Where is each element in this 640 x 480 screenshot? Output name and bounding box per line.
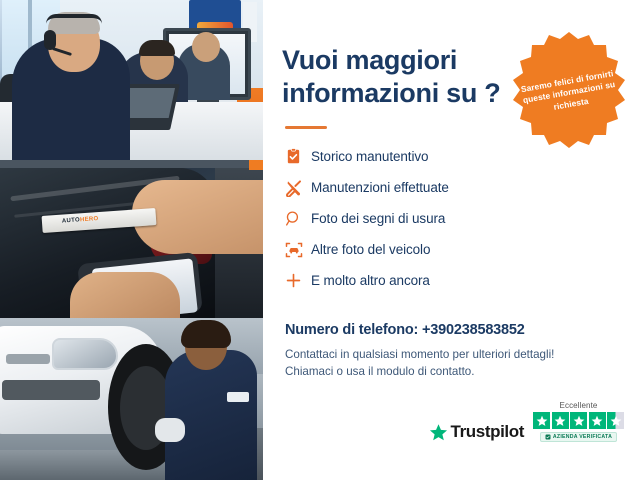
feature-label: Storico manutentivo — [311, 149, 428, 164]
feature-label: E molto altro ancora — [311, 273, 430, 288]
magnifier-icon — [285, 210, 311, 227]
person-mid-hair-decor — [139, 40, 175, 56]
verified-check-icon — [545, 434, 551, 440]
verified-business-badge: AZIENDA VERIFICATA — [540, 432, 617, 442]
photo-top-strip-decor — [0, 160, 263, 168]
page-title: Vuoi maggiori informazioni su ? — [282, 44, 532, 110]
call-center-photo — [0, 0, 263, 160]
callout-badge-text: Saremo felici di fornirti queste informa… — [505, 66, 633, 120]
callout-badge: Saremo felici di fornirti queste informa… — [507, 30, 631, 154]
mechanic-glove-decor — [155, 418, 185, 442]
grille-upper-decor — [6, 354, 50, 364]
trustpilot-widget[interactable]: Trustpilot Eccellente AZIENDA VERIFICATA — [429, 401, 624, 442]
hand-lower-decor — [70, 272, 180, 318]
trustpilot-brand: Trustpilot — [451, 422, 524, 442]
phone-number[interactable]: +390238583852 — [422, 322, 525, 338]
photo-column: AUTOHERO — [0, 0, 263, 480]
grille-decor — [2, 380, 100, 400]
plus-icon — [285, 272, 311, 289]
verified-business-label: AZIENDA VERIFICATA — [553, 434, 612, 440]
contact-subtext-line-1: Contattaci in qualsiasi momento per ulte… — [285, 348, 554, 361]
star-5-half — [607, 412, 624, 429]
orange-accent-decor — [249, 160, 263, 170]
feature-item-molto-altro: E molto altro ancora — [285, 267, 640, 295]
headlight-decor — [52, 338, 118, 370]
autohero-text-a: AUTO — [62, 217, 80, 224]
car-frame-icon — [285, 241, 311, 259]
page-title-line-1: Vuoi maggiori — [282, 45, 457, 75]
trustpilot-star-icon — [429, 423, 448, 442]
promo-card: AUTOHERO Vuoi maggiori — [0, 0, 640, 480]
trustpilot-rating: Eccellente AZIENDA VERIFICATA — [533, 401, 624, 442]
trustpilot-rating-label: Eccellente — [560, 401, 598, 410]
content-panel: Vuoi maggiori informazioni su ? Storico … — [263, 0, 640, 480]
autohero-logo: AUTOHERO — [62, 216, 99, 225]
trustpilot-stars — [533, 412, 624, 429]
autohero-text-b: HERO — [80, 216, 99, 223]
star-4 — [589, 412, 606, 429]
mechanic-badge-decor — [227, 392, 249, 402]
contact-subtext-line-2: Chiamaci o usa il modulo di contatto. — [285, 365, 474, 378]
trustpilot-logo: Trustpilot — [429, 422, 524, 442]
title-divider — [285, 126, 327, 129]
callout-badge-content: Saremo felici di fornirti queste informa… — [497, 20, 640, 164]
mechanic-decor — [165, 350, 257, 480]
phone-line: Numero di telefono: +390238583852 — [285, 322, 640, 338]
feature-label: Altre foto del veicolo — [311, 242, 430, 257]
feature-label: Manutenzioni effettuate — [311, 180, 449, 195]
workshop-photo — [0, 318, 263, 480]
person-back-head-decor — [192, 32, 220, 62]
headset-band-decor — [46, 14, 102, 24]
feature-list: Storico manutentivo Manutenzioni effettu… — [285, 143, 640, 295]
star-1 — [533, 412, 550, 429]
star-2 — [552, 412, 569, 429]
clipboard-check-icon — [285, 148, 311, 165]
feature-item-manutenzioni-effettuate: Manutenzioni effettuate — [285, 174, 640, 202]
tools-icon — [285, 179, 311, 197]
feature-item-foto-segni-usura: Foto dei segni di usura — [285, 205, 640, 233]
feature-item-altre-foto-veicolo: Altre foto del veicolo — [285, 236, 640, 264]
page-title-line-2: informazioni su ? — [282, 78, 500, 108]
mechanic-hair-decor — [181, 320, 231, 348]
feature-label: Foto dei segni di usura — [311, 211, 445, 226]
star-3 — [570, 412, 587, 429]
phone-label: Numero di telefono: — [285, 322, 418, 338]
car-inspection-photo: AUTOHERO — [0, 160, 263, 318]
contact-subtext: Contattaci in qualsiasi momento per ulte… — [285, 347, 640, 381]
